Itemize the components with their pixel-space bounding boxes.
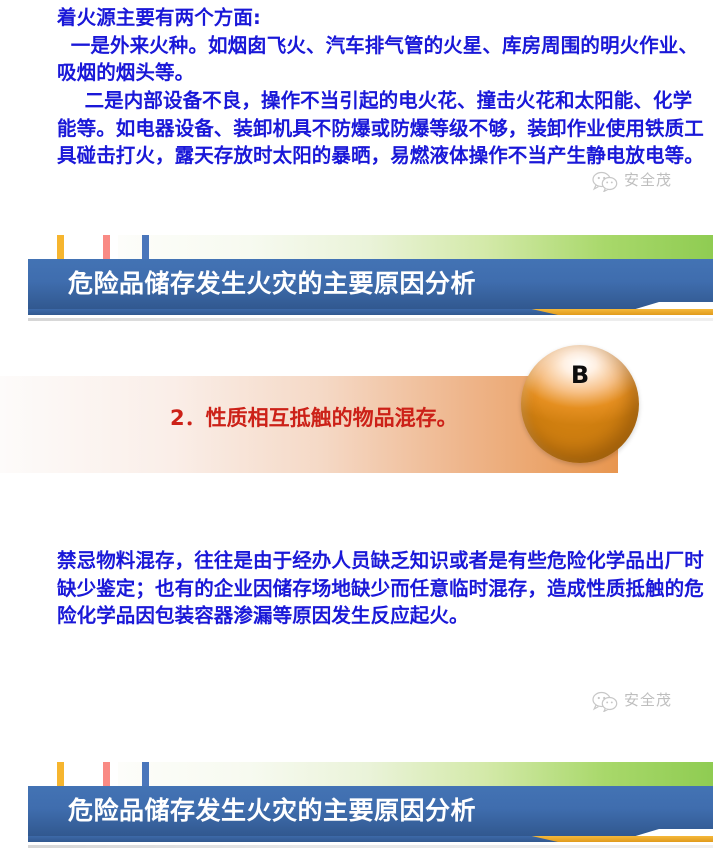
headline-badge-letter: B [521, 361, 639, 389]
body-paragraph: 禁忌物料混存，往往是由于经办人员缺乏知识或者是有些危险化学品出厂时缺少鉴定；也有… [57, 547, 707, 630]
intro-paragraph: 着火源主要有两个方面: 一是外来火种。如烟囱飞火、汽车排气管的火星、库房周围的明… [57, 4, 707, 170]
banner-title-top: 危险品储存发生火灾的主要原因分析 [68, 259, 476, 309]
banner-underline [28, 318, 713, 321]
banner-underline [28, 845, 713, 848]
section-banner-bottom: 危险品储存发生火灾的主要原因分析 [0, 756, 713, 856]
section-banner-top: 危险品储存发生火灾的主要原因分析 [0, 229, 713, 329]
watermark-label: 安全茂 [624, 689, 672, 710]
banner-blue-bar: 危险品储存发生火灾的主要原因分析 [28, 259, 713, 309]
banner-title-bottom: 危险品储存发生火灾的主要原因分析 [68, 786, 476, 836]
headline-badge-sphere: B [521, 345, 639, 463]
watermark-bottom: 安全茂 [592, 688, 704, 716]
watermark-top: 安全茂 [592, 168, 704, 196]
watermark-label: 安全茂 [624, 169, 672, 190]
wechat-logo-icon [592, 691, 618, 712]
banner-blue-bar: 危险品储存发生火灾的主要原因分析 [28, 786, 713, 836]
headline-text: 2．性质相互抵触的物品混存。 [170, 403, 500, 435]
wechat-logo-icon [592, 171, 618, 192]
